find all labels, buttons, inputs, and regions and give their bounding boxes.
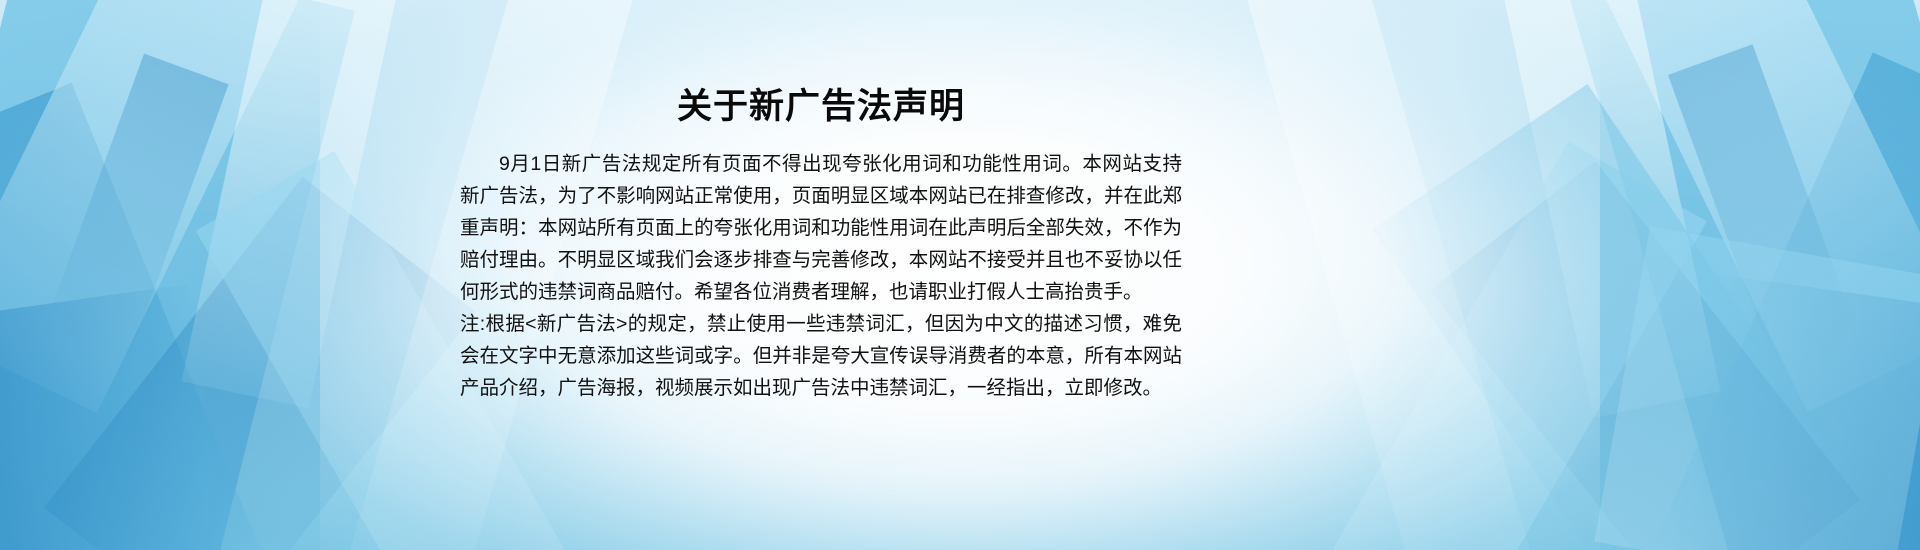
statement-content: 关于新广告法声明 9月1日新广告法规定所有页面不得出现夸张化用词和功能性用词。本… (0, 0, 1920, 550)
statement-text-block: 关于新广告法声明 9月1日新广告法规定所有页面不得出现夸张化用词和功能性用词。本… (460, 86, 1182, 404)
advertising-law-statement-banner: 关于新广告法声明 9月1日新广告法规定所有页面不得出现夸张化用词和功能性用词。本… (0, 0, 1920, 550)
statement-note-paragraph: 注:根据<新广告法>的规定，禁止使用一些违禁词汇，但因为中文的描述习惯，难免会在… (460, 308, 1182, 404)
statement-body-paragraph: 9月1日新广告法规定所有页面不得出现夸张化用词和功能性用词。本网站支持新广告法，… (460, 148, 1182, 308)
page-title: 关于新广告法声明 (460, 86, 1182, 128)
